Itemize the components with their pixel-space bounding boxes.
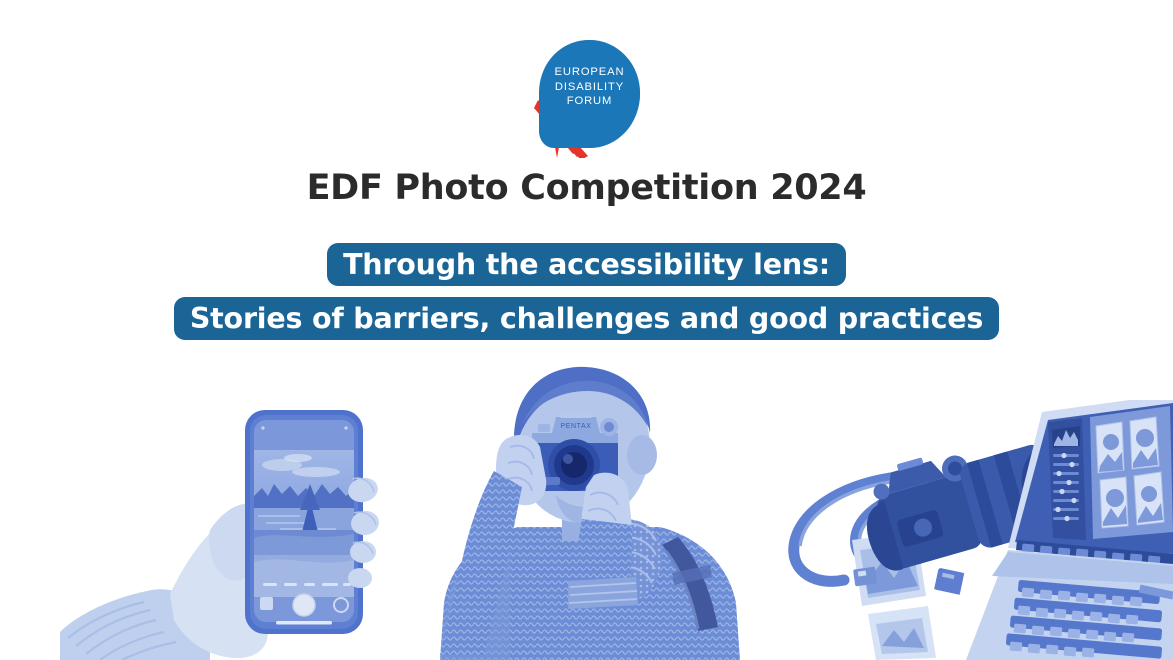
logo-container: EUROPEAN DISABILITY FORUM: [0, 38, 1173, 158]
photo-hand-holding-smartphone: [60, 380, 460, 660]
edf-logo: EUROPEAN DISABILITY FORUM: [528, 38, 646, 158]
logo-line-3: FORUM: [551, 94, 629, 109]
photo-strip: PENTAX: [0, 355, 1173, 660]
logo-line-2: DISABILITY: [551, 80, 629, 95]
page-title: EDF Photo Competition 2024: [0, 166, 1173, 210]
poster-canvas: EUROPEAN DISABILITY FORUM EDF Photo Comp…: [0, 0, 1173, 660]
subtitle-line-2: Stories of barriers, challenges and good…: [190, 302, 983, 335]
photo-man-with-slr-camera: PENTAX: [410, 355, 770, 660]
subtitle-banner: Through the accessibility lens:Stories o…: [0, 238, 1173, 346]
logo-line-1: EUROPEAN: [551, 65, 629, 80]
subtitle-line-1: Through the accessibility lens:: [343, 248, 830, 281]
logo-text-block: EUROPEAN DISABILITY FORUM: [551, 65, 629, 109]
svg-text:PENTAX: PENTAX: [560, 423, 591, 430]
photo-dslr-camera-and-laptop: [770, 400, 1173, 660]
subtitle-text: Through the accessibility lens:Stories o…: [174, 243, 999, 340]
